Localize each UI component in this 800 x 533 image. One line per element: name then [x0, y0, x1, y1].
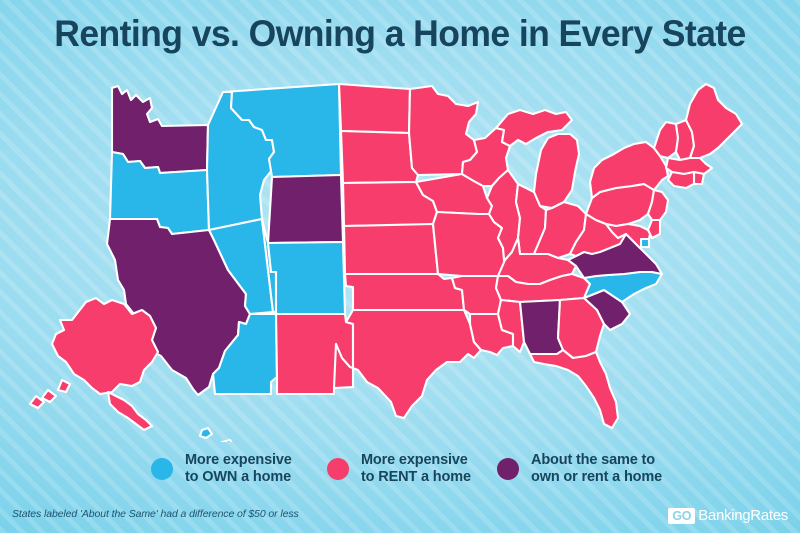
state-OK[interactable]: [345, 274, 464, 310]
legend-label-rent: More expensiveto RENT a home: [361, 452, 471, 486]
footnote: States labeled 'About the Same' had a di…: [12, 508, 299, 520]
legend: More expensiveto OWN a home More expensi…: [0, 448, 800, 490]
legend-label-own: More expensiveto OWN a home: [185, 452, 292, 486]
logo-go-mark: GO: [668, 508, 695, 524]
legend-dot-rent-icon: [327, 458, 349, 480]
legend-item-rent[interactable]: More expensiveto RENT a home: [327, 448, 471, 490]
legend-dot-own-icon: [151, 458, 173, 480]
state-WY[interactable]: [268, 175, 343, 243]
state-TX[interactable]: [334, 310, 481, 418]
state-VT[interactable]: [654, 122, 678, 158]
state-RI[interactable]: [694, 172, 704, 184]
state-DC[interactable]: [641, 239, 649, 247]
legend-label-same: About the same toown or rent a home: [531, 452, 662, 486]
state-HI[interactable]: [200, 428, 274, 442]
state-CO[interactable]: [268, 242, 345, 314]
state-ME[interactable]: [686, 84, 742, 158]
infographic-page: Renting vs. Owning a Home in Every State: [0, 0, 800, 533]
gobankingrates-logo[interactable]: GO BankingRates: [668, 506, 788, 525]
legend-item-own[interactable]: More expensiveto OWN a home: [151, 448, 292, 490]
us-choropleth-map: [0, 62, 800, 442]
logo-wordmark: BankingRates: [698, 508, 788, 524]
page-title: Renting vs. Owning a Home in Every State: [16, 12, 784, 56]
legend-item-same[interactable]: About the same toown or rent a home: [497, 448, 662, 490]
state-AL[interactable]: [520, 300, 563, 354]
state-AK[interactable]: [30, 298, 158, 430]
state-CT[interactable]: [668, 172, 694, 188]
legend-dot-same-icon: [497, 458, 519, 480]
state-ND[interactable]: [339, 84, 410, 133]
state-KS[interactable]: [344, 224, 438, 274]
state-SD[interactable]: [341, 131, 418, 183]
state-FL[interactable]: [530, 350, 618, 428]
us-map-svg: [0, 62, 800, 442]
